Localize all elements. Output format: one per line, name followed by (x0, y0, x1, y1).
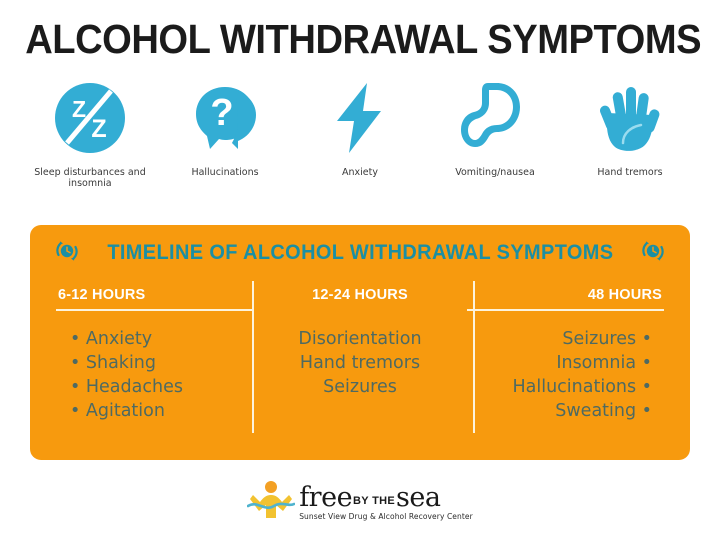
page-title: ALCOHOL WITHDRAWAL SYMPTOMS (25, 16, 695, 63)
symptom-item-anxiety: Anxiety (294, 75, 426, 178)
timeline-item: • Anxiety (70, 327, 253, 351)
svg-text:Z: Z (72, 96, 86, 122)
timeline-column-48-hours: 48 HOURS Seizures •Insomnia •Hallucinati… (467, 281, 664, 453)
timeline-item: • Headaches (70, 375, 253, 399)
page-title-container: ALCOHOL WITHDRAWAL SYMPTOMS (0, 0, 720, 63)
svg-text:Z: Z (91, 115, 106, 143)
timeline-panel: TIMELINE OF ALCOHOL WITHDRAWAL SYMPTOMS … (30, 225, 690, 460)
head-question-mark-icon: ? (188, 75, 262, 161)
column-heading: 12-24 HOURS (253, 285, 466, 313)
sleep-z-slash-icon: Z Z (53, 75, 127, 161)
timeline-item: Hallucinations • (467, 375, 652, 399)
free-by-the-sea-logo[interactable]: free BY THE sea Sunset View Drug & Alcoh… (247, 478, 473, 525)
logo-wordmark: free BY THE sea Sunset View Drug & Alcoh… (299, 482, 473, 521)
timeline-item: • Agitation (70, 399, 253, 423)
timeline-column-12-24-hours: 12-24 HOURS DisorientationHand tremorsSe… (253, 281, 466, 453)
footer-logo-container: free BY THE sea Sunset View Drug & Alcoh… (0, 478, 720, 525)
clock-refresh-icon-left (54, 238, 80, 269)
timeline-item: Insomnia • (467, 351, 652, 375)
logo-tagline: Sunset View Drug & Alcohol Recovery Cent… (299, 512, 473, 521)
timeline-panel-title: TIMELINE OF ALCOHOL WITHDRAWAL SYMPTOMS (107, 241, 613, 265)
logo-word-bythe: BY THE (352, 496, 396, 511)
column-items: Seizures •Insomnia •Hallucinations •Swea… (467, 313, 664, 423)
timeline-item: Hand tremors (253, 351, 466, 375)
column-rule (56, 309, 253, 311)
timeline-table: 6-12 HOURS • Anxiety• Shaking• Headaches… (56, 281, 664, 453)
symptom-caption: Anxiety (342, 167, 378, 178)
symptom-item-hallucinations: ? Hallucinations (159, 75, 291, 178)
column-items: DisorientationHand tremorsSeizures (253, 313, 466, 399)
stomach-icon (458, 75, 532, 161)
timeline-item: Sweating • (467, 399, 652, 423)
clock-refresh-icon-right (640, 238, 666, 269)
svg-text:?: ? (210, 92, 233, 134)
symptom-icon-row: Z Z Sleep disturbances and insomnia ? Ha… (0, 75, 720, 200)
open-hand-icon (593, 75, 667, 161)
timeline-item: Seizures (253, 375, 466, 399)
timeline-column-6-12-hours: 6-12 HOURS • Anxiety• Shaking• Headaches… (56, 281, 253, 453)
symptom-caption: Vomiting/nausea (455, 167, 535, 178)
timeline-panel-header: TIMELINE OF ALCOHOL WITHDRAWAL SYMPTOMS (30, 225, 690, 281)
symptom-item-vomiting: Vomiting/nausea (429, 75, 561, 178)
sun-person-wave-logo-icon (247, 478, 295, 525)
logo-word-free: free (299, 484, 352, 511)
symptom-caption: Sleep disturbances and insomnia (24, 167, 156, 189)
column-rule (467, 309, 664, 311)
timeline-item: Seizures • (467, 327, 652, 351)
column-items: • Anxiety• Shaking• Headaches• Agitation (56, 313, 253, 423)
logo-word-sea: sea (396, 484, 440, 511)
symptom-caption: Hand tremors (597, 167, 662, 178)
timeline-item: Disorientation (253, 327, 466, 351)
symptom-item-sleep: Z Z Sleep disturbances and insomnia (24, 75, 156, 189)
lightning-bolt-icon (323, 75, 397, 161)
timeline-item: • Shaking (70, 351, 253, 375)
symptom-item-hand-tremors: Hand tremors (564, 75, 696, 178)
symptom-caption: Hallucinations (191, 167, 258, 178)
